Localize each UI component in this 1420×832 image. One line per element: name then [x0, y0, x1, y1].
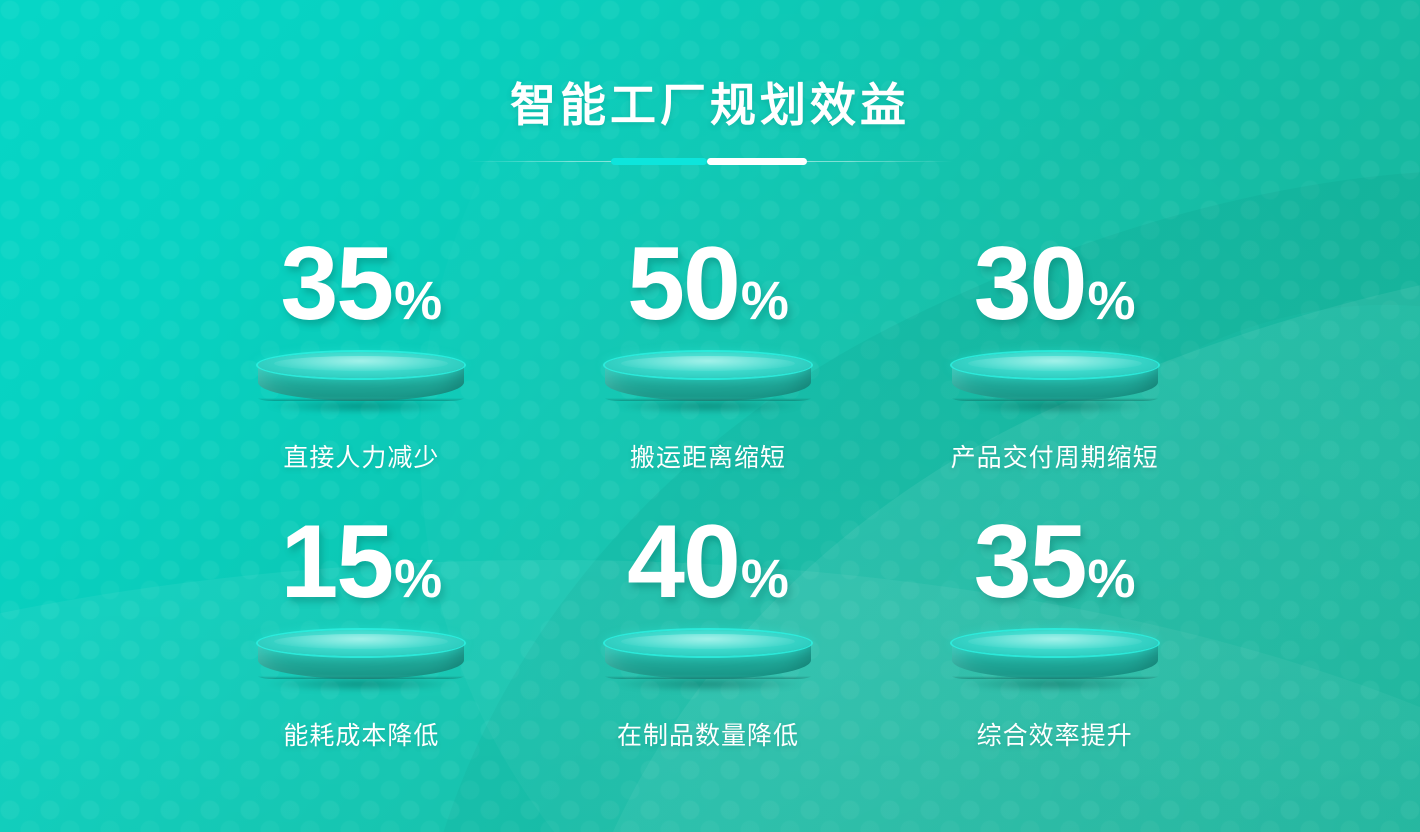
stat-value: 35 % [280, 232, 442, 348]
podium-top-surface [258, 630, 464, 656]
stat-item: 40 % 在制品数量降低 [535, 510, 882, 788]
stat-value: 50 % [627, 232, 789, 348]
podium-top-surface [258, 352, 464, 378]
stat-label: 综合效率提升 [977, 716, 1133, 752]
stat-number: 30 [974, 232, 1086, 336]
stat-value: 40 % [627, 510, 789, 626]
stat-item: 30 % 产品交付周期缩短 [881, 232, 1228, 510]
stat-item: 35 % 直接人力减少 [188, 232, 535, 510]
stat-label: 在制品数量降低 [617, 716, 799, 752]
title-divider [467, 157, 953, 167]
podium-top-surface [605, 630, 811, 656]
stat-number: 15 [280, 510, 392, 614]
page-title: 智能工厂规划效益 [0, 78, 1420, 133]
podium-pedestal [952, 352, 1158, 414]
stats-grid: 35 % 直接人力减少 50 % 搬运距离缩短 [188, 232, 1228, 788]
divider-segment-white [707, 158, 807, 165]
podium-pedestal [258, 352, 464, 414]
divider-segment-cyan [611, 158, 707, 165]
stat-label: 直接人力减少 [283, 438, 439, 474]
percent-sign: % [1087, 274, 1135, 328]
percent-sign: % [1087, 552, 1135, 606]
stat-item: 35 % 综合效率提升 [881, 510, 1228, 788]
infographic-slide: 智能工厂规划效益 35 % 直接人力减少 50 % [0, 0, 1420, 832]
percent-sign: % [741, 552, 789, 606]
percent-sign: % [394, 552, 442, 606]
podium-top-surface [605, 352, 811, 378]
header: 智能工厂规划效益 [0, 78, 1420, 167]
stat-number: 35 [280, 232, 392, 336]
stat-number: 35 [974, 510, 1086, 614]
stat-label: 搬运距离缩短 [630, 438, 786, 474]
podium-top-surface [952, 630, 1158, 656]
percent-sign: % [394, 274, 442, 328]
stat-value: 30 % [974, 232, 1136, 348]
podium-pedestal [605, 352, 811, 414]
podium-top-surface [952, 352, 1158, 378]
stat-number: 50 [627, 232, 739, 336]
stat-number: 40 [627, 510, 739, 614]
stat-item: 50 % 搬运距离缩短 [535, 232, 882, 510]
podium-pedestal [952, 630, 1158, 692]
stat-value: 15 % [280, 510, 442, 626]
podium-pedestal [605, 630, 811, 692]
percent-sign: % [741, 274, 789, 328]
stat-label: 产品交付周期缩短 [951, 438, 1159, 474]
podium-pedestal [258, 630, 464, 692]
stat-label: 能耗成本降低 [283, 716, 439, 752]
stat-item: 15 % 能耗成本降低 [188, 510, 535, 788]
stat-value: 35 % [974, 510, 1136, 626]
